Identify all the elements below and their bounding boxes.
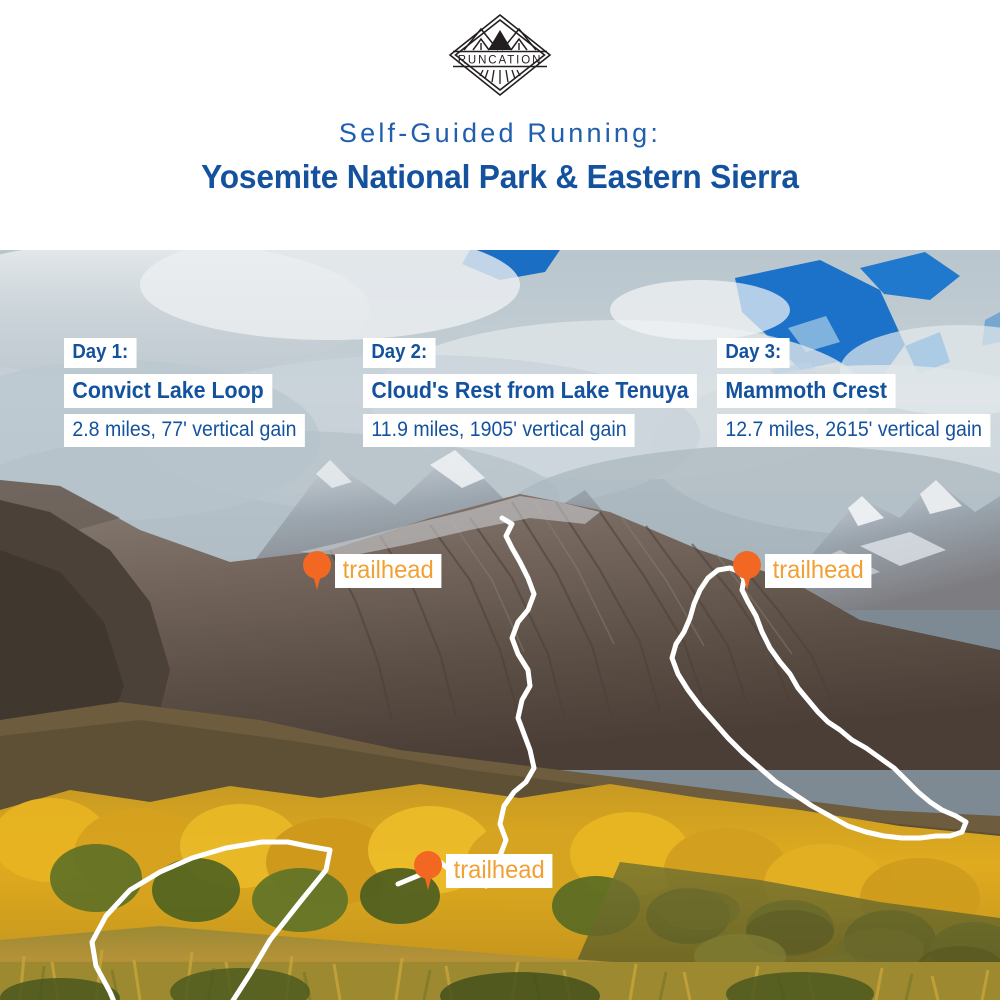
trailhead-marker-day-1[interactable]: trailhead (303, 551, 447, 591)
day-3-stats: 12.7 miles, 2615' vertical gain (717, 414, 990, 447)
day-3-callout: Day 3: Mammoth Crest 12.7 miles, 2615' v… (717, 338, 1000, 453)
runcation-mountain-logo: RUNCATION (445, 12, 555, 98)
day-2-stats: 11.9 miles, 1905' vertical gain (363, 414, 635, 447)
map-pin-icon (414, 851, 442, 891)
hero-photo: Day 1: Convict Lake Loop 2.8 miles, 77' … (0, 250, 1000, 1000)
trailhead-marker-day-3[interactable]: trailhead (733, 551, 877, 591)
page-subtitle: Self-Guided Running: (0, 118, 1000, 149)
day-1-callout: Day 1: Convict Lake Loop 2.8 miles, 77' … (64, 338, 323, 453)
logo-wordmark: RUNCATION (458, 55, 543, 67)
day-1-route-name: Convict Lake Loop (64, 374, 272, 408)
day-2-label: Day 2: (363, 338, 436, 368)
trailhead-label-day-3: trailhead (765, 554, 871, 588)
map-pin-icon (303, 551, 331, 591)
day-1-stats: 2.8 miles, 77' vertical gain (64, 414, 305, 447)
header: RUNCATION Self-Guided Running: Yosemite … (0, 0, 1000, 250)
day-2-callout: Day 2: Cloud's Rest from Lake Tenuya 11.… (363, 338, 722, 453)
trailhead-label-day-2: trailhead (446, 854, 552, 888)
trailhead-label-day-1: trailhead (335, 554, 441, 588)
trailhead-marker-day-2[interactable]: trailhead (414, 851, 558, 891)
poster-page: RUNCATION Self-Guided Running: Yosemite … (0, 0, 1000, 1000)
day-3-route-name: Mammoth Crest (717, 374, 895, 408)
day-3-label: Day 3: (717, 338, 790, 368)
day-2-route-name: Cloud's Rest from Lake Tenuya (363, 374, 697, 408)
map-pin-icon (733, 551, 761, 591)
page-title: Yosemite National Park & Eastern Sierra (20, 158, 980, 196)
day-1-label: Day 1: (64, 338, 137, 368)
